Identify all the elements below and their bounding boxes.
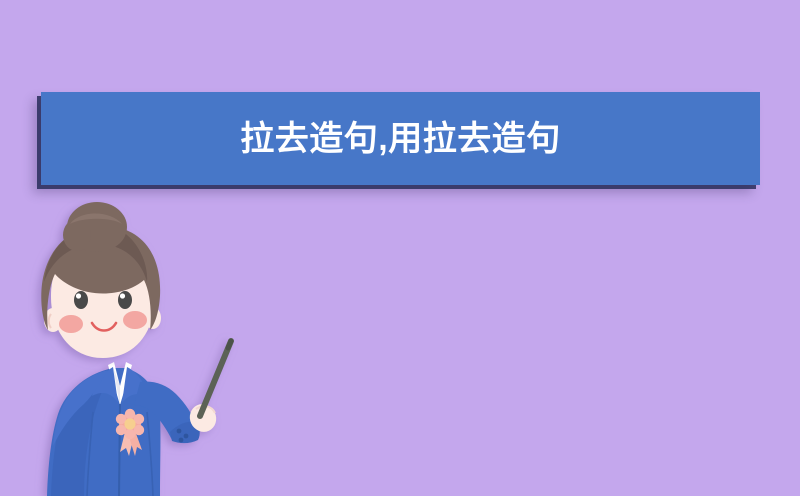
pointer-stick [200, 341, 231, 416]
blush-right [123, 311, 147, 329]
eye-left [74, 291, 88, 309]
cuff-button-3 [179, 438, 184, 443]
cuff-button-1 [177, 429, 182, 434]
page-title: 拉去造句,用拉去造句 [240, 122, 560, 156]
teacher-illustration [0, 200, 280, 496]
blush-left [59, 315, 83, 333]
title-banner: 拉去造句,用拉去造句 [41, 92, 760, 185]
cuff-button-2 [184, 434, 189, 439]
page-root: 拉去造句,用拉去造句 [0, 0, 800, 496]
hair-bun-side [63, 219, 91, 251]
teacher-body [47, 341, 231, 496]
eye-right [118, 291, 132, 309]
teacher-head [41, 202, 161, 358]
pointer-tip [228, 341, 231, 348]
badge-center [124, 418, 135, 429]
